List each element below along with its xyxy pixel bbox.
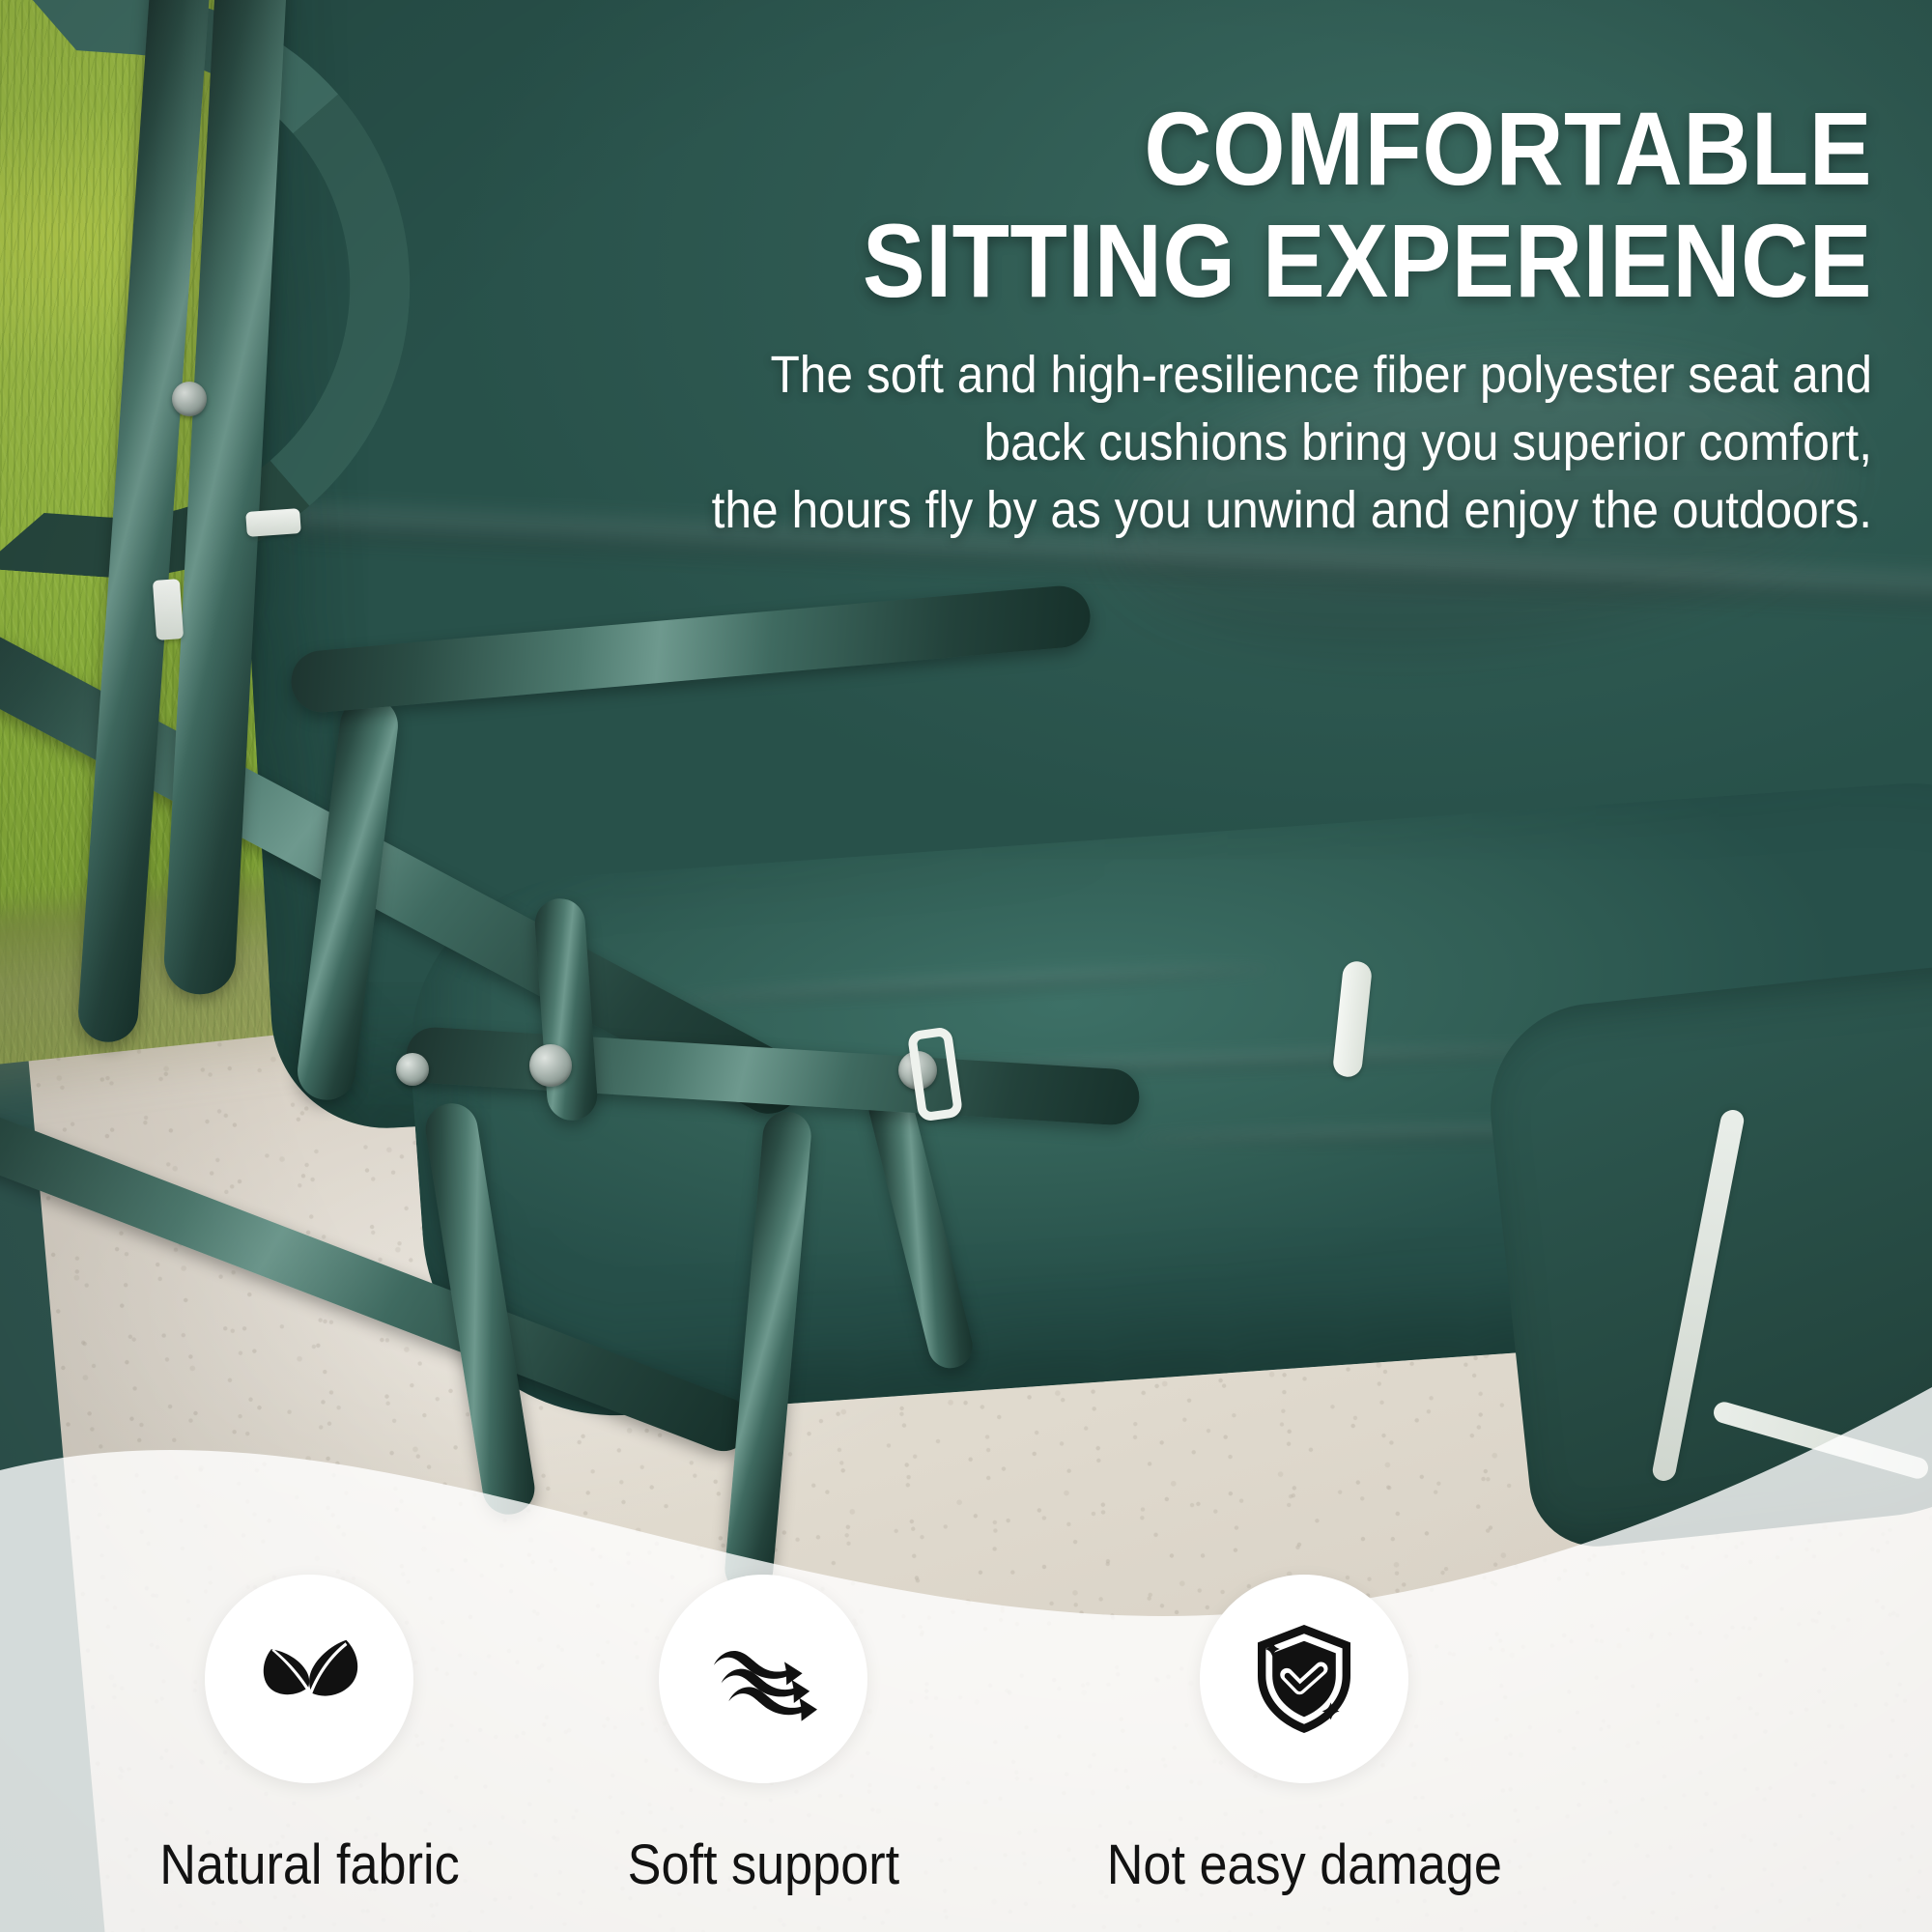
description-line-1: The soft and high-resilience fiber polye… bbox=[575, 341, 1872, 409]
feature-icon-badge bbox=[205, 1575, 413, 1783]
marketing-copy: COMFORTABLE SITTING EXPERIENCE The soft … bbox=[462, 93, 1872, 545]
feature-item-soft-support[interactable]: Soft support bbox=[560, 1575, 966, 1893]
airflow-icon bbox=[701, 1617, 825, 1741]
feature-icon-badge bbox=[1200, 1575, 1408, 1783]
page-title: COMFORTABLE SITTING EXPERIENCE bbox=[603, 93, 1872, 316]
leaf-icon bbox=[247, 1617, 371, 1741]
product-feature-image: COMFORTABLE SITTING EXPERIENCE The soft … bbox=[0, 0, 1932, 1932]
feature-icon-badge bbox=[659, 1575, 867, 1783]
description-line-3: the hours fly by as you unwind and enjoy… bbox=[575, 476, 1872, 544]
headline-line-2: SITTING EXPERIENCE bbox=[603, 205, 1872, 317]
headline-line-1: COMFORTABLE bbox=[1144, 90, 1872, 207]
feature-label: Natural fabric bbox=[159, 1837, 459, 1893]
feature-label: Not easy damage bbox=[1106, 1837, 1501, 1893]
feature-label: Soft support bbox=[627, 1837, 898, 1893]
shield-check-icon bbox=[1242, 1617, 1366, 1741]
feature-item-natural-fabric[interactable]: Natural fabric bbox=[106, 1575, 512, 1893]
description-text: The soft and high-resilience fiber polye… bbox=[575, 341, 1872, 545]
description-line-2: back cushions bring you superior comfort… bbox=[575, 409, 1872, 476]
feature-item-not-easy-damage[interactable]: Not easy damage bbox=[1005, 1575, 1604, 1893]
feature-list: Natural fabric Soft support bbox=[0, 1391, 1932, 1932]
